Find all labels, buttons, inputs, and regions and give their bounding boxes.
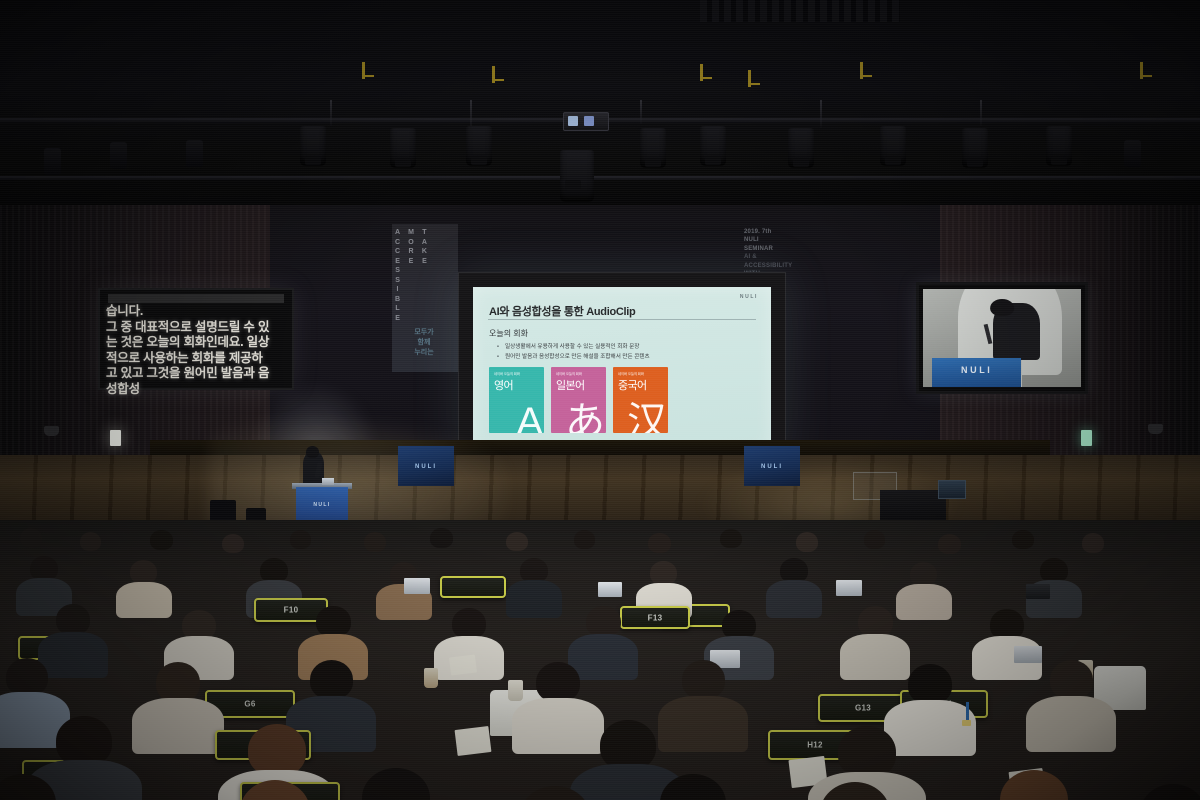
- caption-line: 는 것은 오늘의 회화인데요. 일상: [106, 335, 288, 351]
- vertical-banner-accessible: AC CE SS IB LE MO RE TA KE 모두가 함께 누리는: [392, 224, 458, 372]
- stage-light-small: [1124, 140, 1141, 167]
- hanging-cable: [640, 100, 642, 124]
- slide-logo: NULI: [740, 294, 758, 300]
- attendee-head: [290, 530, 311, 549]
- attendee-head: [130, 560, 157, 584]
- attendee-head: [222, 534, 244, 553]
- attendee-badge: [962, 720, 971, 726]
- attendee-head: [430, 528, 453, 548]
- signage-line: 2019. 7th: [744, 228, 806, 236]
- attendee-head: [586, 606, 621, 637]
- attendee-head: [248, 724, 306, 776]
- av-equipment-table: [880, 490, 946, 524]
- attendee-lanyard: [966, 702, 969, 722]
- seat-row-back[interactable]: [440, 576, 506, 598]
- slide-subtitle: 오늘의 회화: [489, 328, 528, 339]
- attendee-head: [536, 662, 580, 702]
- banner-column-more: MO RE: [408, 228, 414, 323]
- attendee-head: [864, 530, 885, 549]
- attendee-body: [506, 580, 562, 618]
- stage-light-small: [110, 142, 127, 169]
- card-glyph: A: [516, 402, 543, 433]
- feed-speaker-head: [990, 299, 1014, 317]
- stage-panel-left-label: NULI: [415, 464, 437, 470]
- attendee-head: [858, 606, 893, 637]
- attendee-head: [56, 716, 112, 766]
- attendee-head: [600, 720, 656, 770]
- attendee-head: [20, 528, 42, 548]
- stage-light: [700, 126, 726, 166]
- stage-panel-left: NULI: [398, 446, 454, 486]
- caption-line: 습니다.: [106, 304, 288, 320]
- live-feed-monitor: NULI: [916, 282, 1088, 394]
- attendee-body: [884, 700, 976, 756]
- slide-divider: [488, 319, 756, 320]
- attendee-head: [938, 534, 961, 554]
- cable-marker: [860, 62, 863, 79]
- cable-marker: [492, 66, 495, 83]
- attendee-body: [766, 580, 822, 618]
- stage-light: [466, 126, 492, 166]
- attendee-notebook[interactable]: [449, 654, 477, 675]
- card-glyph: 汉: [627, 402, 667, 433]
- attendee-head: [80, 532, 101, 551]
- card-language: 영어: [494, 377, 513, 393]
- caption-line: 그 중 대표적으로 설명드릴 수 있: [106, 320, 288, 336]
- signage-line: NULI: [744, 236, 806, 244]
- attendee-body: [658, 696, 748, 752]
- feed-podium-label: NULI: [961, 365, 992, 375]
- attendee-head: [1012, 530, 1034, 549]
- attendee-head: [310, 660, 353, 699]
- auditorium-photo: 습니다. 그 중 대표적으로 설명드릴 수 있 는 것은 오늘의 회화인데요. …: [0, 0, 1200, 800]
- attendee-head: [506, 532, 528, 551]
- attendee-laptop[interactable]: [836, 580, 862, 596]
- hanging-cable: [330, 100, 332, 126]
- caption-screen: 습니다. 그 중 대표적으로 설명드릴 수 있 는 것은 오늘의 회화인데요. …: [98, 288, 294, 390]
- camera-feed: NULI: [923, 289, 1081, 387]
- signage-line: ACCESSIBILITY: [744, 262, 806, 270]
- caption-line: 성합성: [106, 382, 288, 398]
- card-header: 네이버 오늘의 회화: [618, 371, 644, 376]
- presentation-slide: NULI AI와 음성합성을 통한 AudioClip 오늘의 회화 •일상생활…: [473, 287, 771, 453]
- attendee-head: [910, 562, 937, 586]
- attendee-head: [150, 530, 173, 550]
- podium-laptop: [322, 478, 334, 485]
- slide-title: AI와 음성합성을 통한 AudioClip: [489, 303, 635, 319]
- attendee-laptop[interactable]: [1014, 646, 1042, 663]
- signage-line: AI &: [744, 253, 806, 261]
- seat-row-f[interactable]: F13: [620, 606, 690, 629]
- attendee-head: [364, 532, 386, 552]
- slide-bullet: •일상생활에서 유용하게 사용할 수 있는 실용적인 회화 문장: [497, 343, 650, 353]
- language-card-japanese: 네이버 오늘의 회화 일본어 あ: [551, 367, 606, 433]
- card-header: 네이버 오늘의 회화: [494, 371, 520, 376]
- stage-light-small: [186, 140, 203, 167]
- attendee-body: [1026, 696, 1116, 752]
- slide-language-cards: 네이버 오늘의 회화 영어 A 네이버 오늘의 회화 일본어 あ 네이버 오늘의…: [489, 367, 668, 433]
- stage-light-small: [44, 148, 61, 175]
- stage-monitor-speaker: [210, 500, 236, 522]
- attendee-head: [648, 533, 671, 553]
- attendee-head: [682, 660, 725, 699]
- stage-light: [640, 128, 666, 168]
- stage-light: [1046, 126, 1072, 166]
- av-monitor: [938, 480, 966, 499]
- stage-light: [560, 150, 594, 202]
- cable-marker: [700, 64, 703, 81]
- banner-column-take: TA KE: [422, 228, 427, 323]
- attendee-body: [116, 582, 172, 618]
- attendee-head: [908, 664, 952, 704]
- seat-label: F13: [648, 613, 663, 622]
- attendee-body: [568, 634, 638, 680]
- card-language: 일본어: [556, 377, 585, 393]
- exit-sign-right: [1081, 430, 1092, 446]
- stage-light: [880, 126, 906, 166]
- cable-marker: [748, 70, 751, 87]
- attendee-head: [574, 530, 595, 549]
- card-glyph: あ: [565, 402, 605, 433]
- attendee-body: [512, 698, 604, 754]
- cable-marker: [362, 62, 365, 79]
- presenter-head: [306, 446, 319, 458]
- caption-line: 고 있고 그것을 원어민 발음과 음: [106, 366, 288, 382]
- iced-coffee-cup[interactable]: [424, 668, 438, 688]
- attendee-head: [362, 768, 430, 800]
- wall-speaker-left: [44, 426, 59, 436]
- seat-label: G13: [855, 704, 871, 713]
- attendee-notebook[interactable]: [455, 726, 492, 756]
- attendee-laptop[interactable]: [1026, 584, 1050, 599]
- caption-screen-titlebar: [108, 294, 284, 303]
- hanging-cable: [980, 100, 982, 126]
- attendee-laptop[interactable]: [598, 582, 622, 597]
- attendee-head: [650, 561, 677, 585]
- exit-sign-left: [110, 430, 121, 446]
- attendee-laptop[interactable]: [404, 578, 430, 594]
- attendee-head: [720, 529, 742, 548]
- caption-line: 적으로 사용하는 회화를 제공하: [106, 351, 288, 367]
- wall-speaker-right: [1148, 424, 1163, 434]
- audience-area: F9 F10 F13: [0, 520, 1200, 800]
- signage-line: SEMINAR: [744, 245, 806, 253]
- podium-label: NULI: [313, 502, 330, 508]
- attendee-head: [1140, 784, 1200, 800]
- ceiling-vent: [700, 0, 900, 22]
- banner-korean-text: 모두가 함께 누리는: [400, 328, 448, 358]
- card-language: 중국어: [618, 377, 647, 393]
- slide-bullet: •원어민 발음과 음성합성으로 만든 해설을 조합해서 만든 콘텐츠: [497, 353, 650, 363]
- stage-panel-right: NULI: [744, 446, 800, 486]
- stage-light: [962, 128, 988, 168]
- attendee-body: [896, 584, 952, 620]
- attendee-head: [156, 662, 200, 702]
- card-header: 네이버 오늘의 회화: [556, 371, 582, 376]
- attendee-body: [840, 634, 910, 680]
- attendee-head: [452, 608, 486, 639]
- stage-light: [300, 126, 326, 166]
- caption-text-block: 습니다. 그 중 대표적으로 설명드릴 수 있 는 것은 오늘의 회화인데요. …: [106, 304, 288, 397]
- attendee-head: [6, 658, 48, 696]
- feed-podium: NULI: [932, 358, 1020, 387]
- hanging-cable: [820, 100, 822, 128]
- ceiling-truss-area: [0, 0, 1200, 215]
- seat-label: F10: [284, 606, 299, 615]
- stage-light: [390, 128, 416, 168]
- stage-panel-right-label: NULI: [761, 464, 783, 470]
- attendee-head: [316, 606, 351, 637]
- cable-marker: [1140, 62, 1143, 79]
- attendee-head: [1050, 660, 1093, 699]
- seat-label: H12: [807, 741, 823, 750]
- attendee-head: [796, 532, 818, 552]
- dmx-control-box: [563, 112, 609, 131]
- attendee-body: [132, 698, 224, 754]
- seat-label: G6: [244, 700, 255, 709]
- stage-light: [788, 128, 814, 168]
- attendee-head: [56, 604, 90, 635]
- slide-bullet-list: •일상생활에서 유용하게 사용할 수 있는 실용적인 회화 문장 •원어민 발음…: [497, 343, 650, 362]
- truss-rail-2: [0, 176, 1200, 180]
- paper-cup[interactable]: [508, 680, 523, 701]
- attendee-body: [38, 632, 108, 678]
- banner-column-accessible: AC CE SS IB LE: [395, 228, 400, 323]
- attendee-head: [838, 726, 896, 778]
- attendee-head: [1082, 533, 1104, 553]
- language-card-chinese: 네이버 오늘의 회화 중국어 汉: [613, 367, 668, 433]
